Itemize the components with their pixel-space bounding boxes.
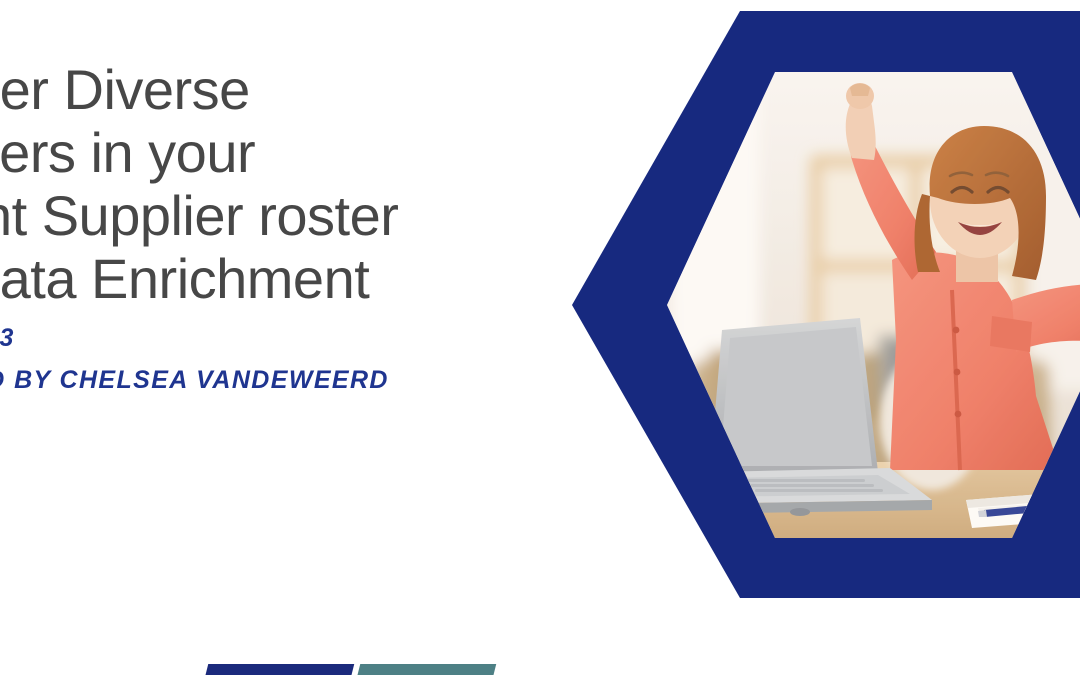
page-title: cover Diverse ppliers in your rrent Supp… xyxy=(0,58,614,310)
presentation-slide: cover Diverse ppliers in your rrent Supp… xyxy=(0,0,1080,675)
logo-bar-navy xyxy=(200,664,354,675)
logo-bar-teal xyxy=(352,664,496,675)
title-line-1: cover Diverse xyxy=(0,58,614,121)
slide-meta: 18, 2023 ENTED BY CHELSEA VANDEWEERD xyxy=(0,322,614,396)
hexagon-photo-graphic xyxy=(560,0,1080,675)
slide-date: 18, 2023 xyxy=(0,322,614,354)
title-text-block: cover Diverse ppliers in your rrent Supp… xyxy=(0,0,600,675)
slide-presenter: ENTED BY CHELSEA VANDEWEERD xyxy=(0,364,614,396)
hexagon-svg xyxy=(560,0,1080,675)
title-line-2: ppliers in your xyxy=(0,121,614,184)
company-logo xyxy=(198,664,498,675)
title-line-3: rrent Supplier roster xyxy=(0,184,614,247)
title-line-4: h Data Enrichment xyxy=(0,247,614,310)
